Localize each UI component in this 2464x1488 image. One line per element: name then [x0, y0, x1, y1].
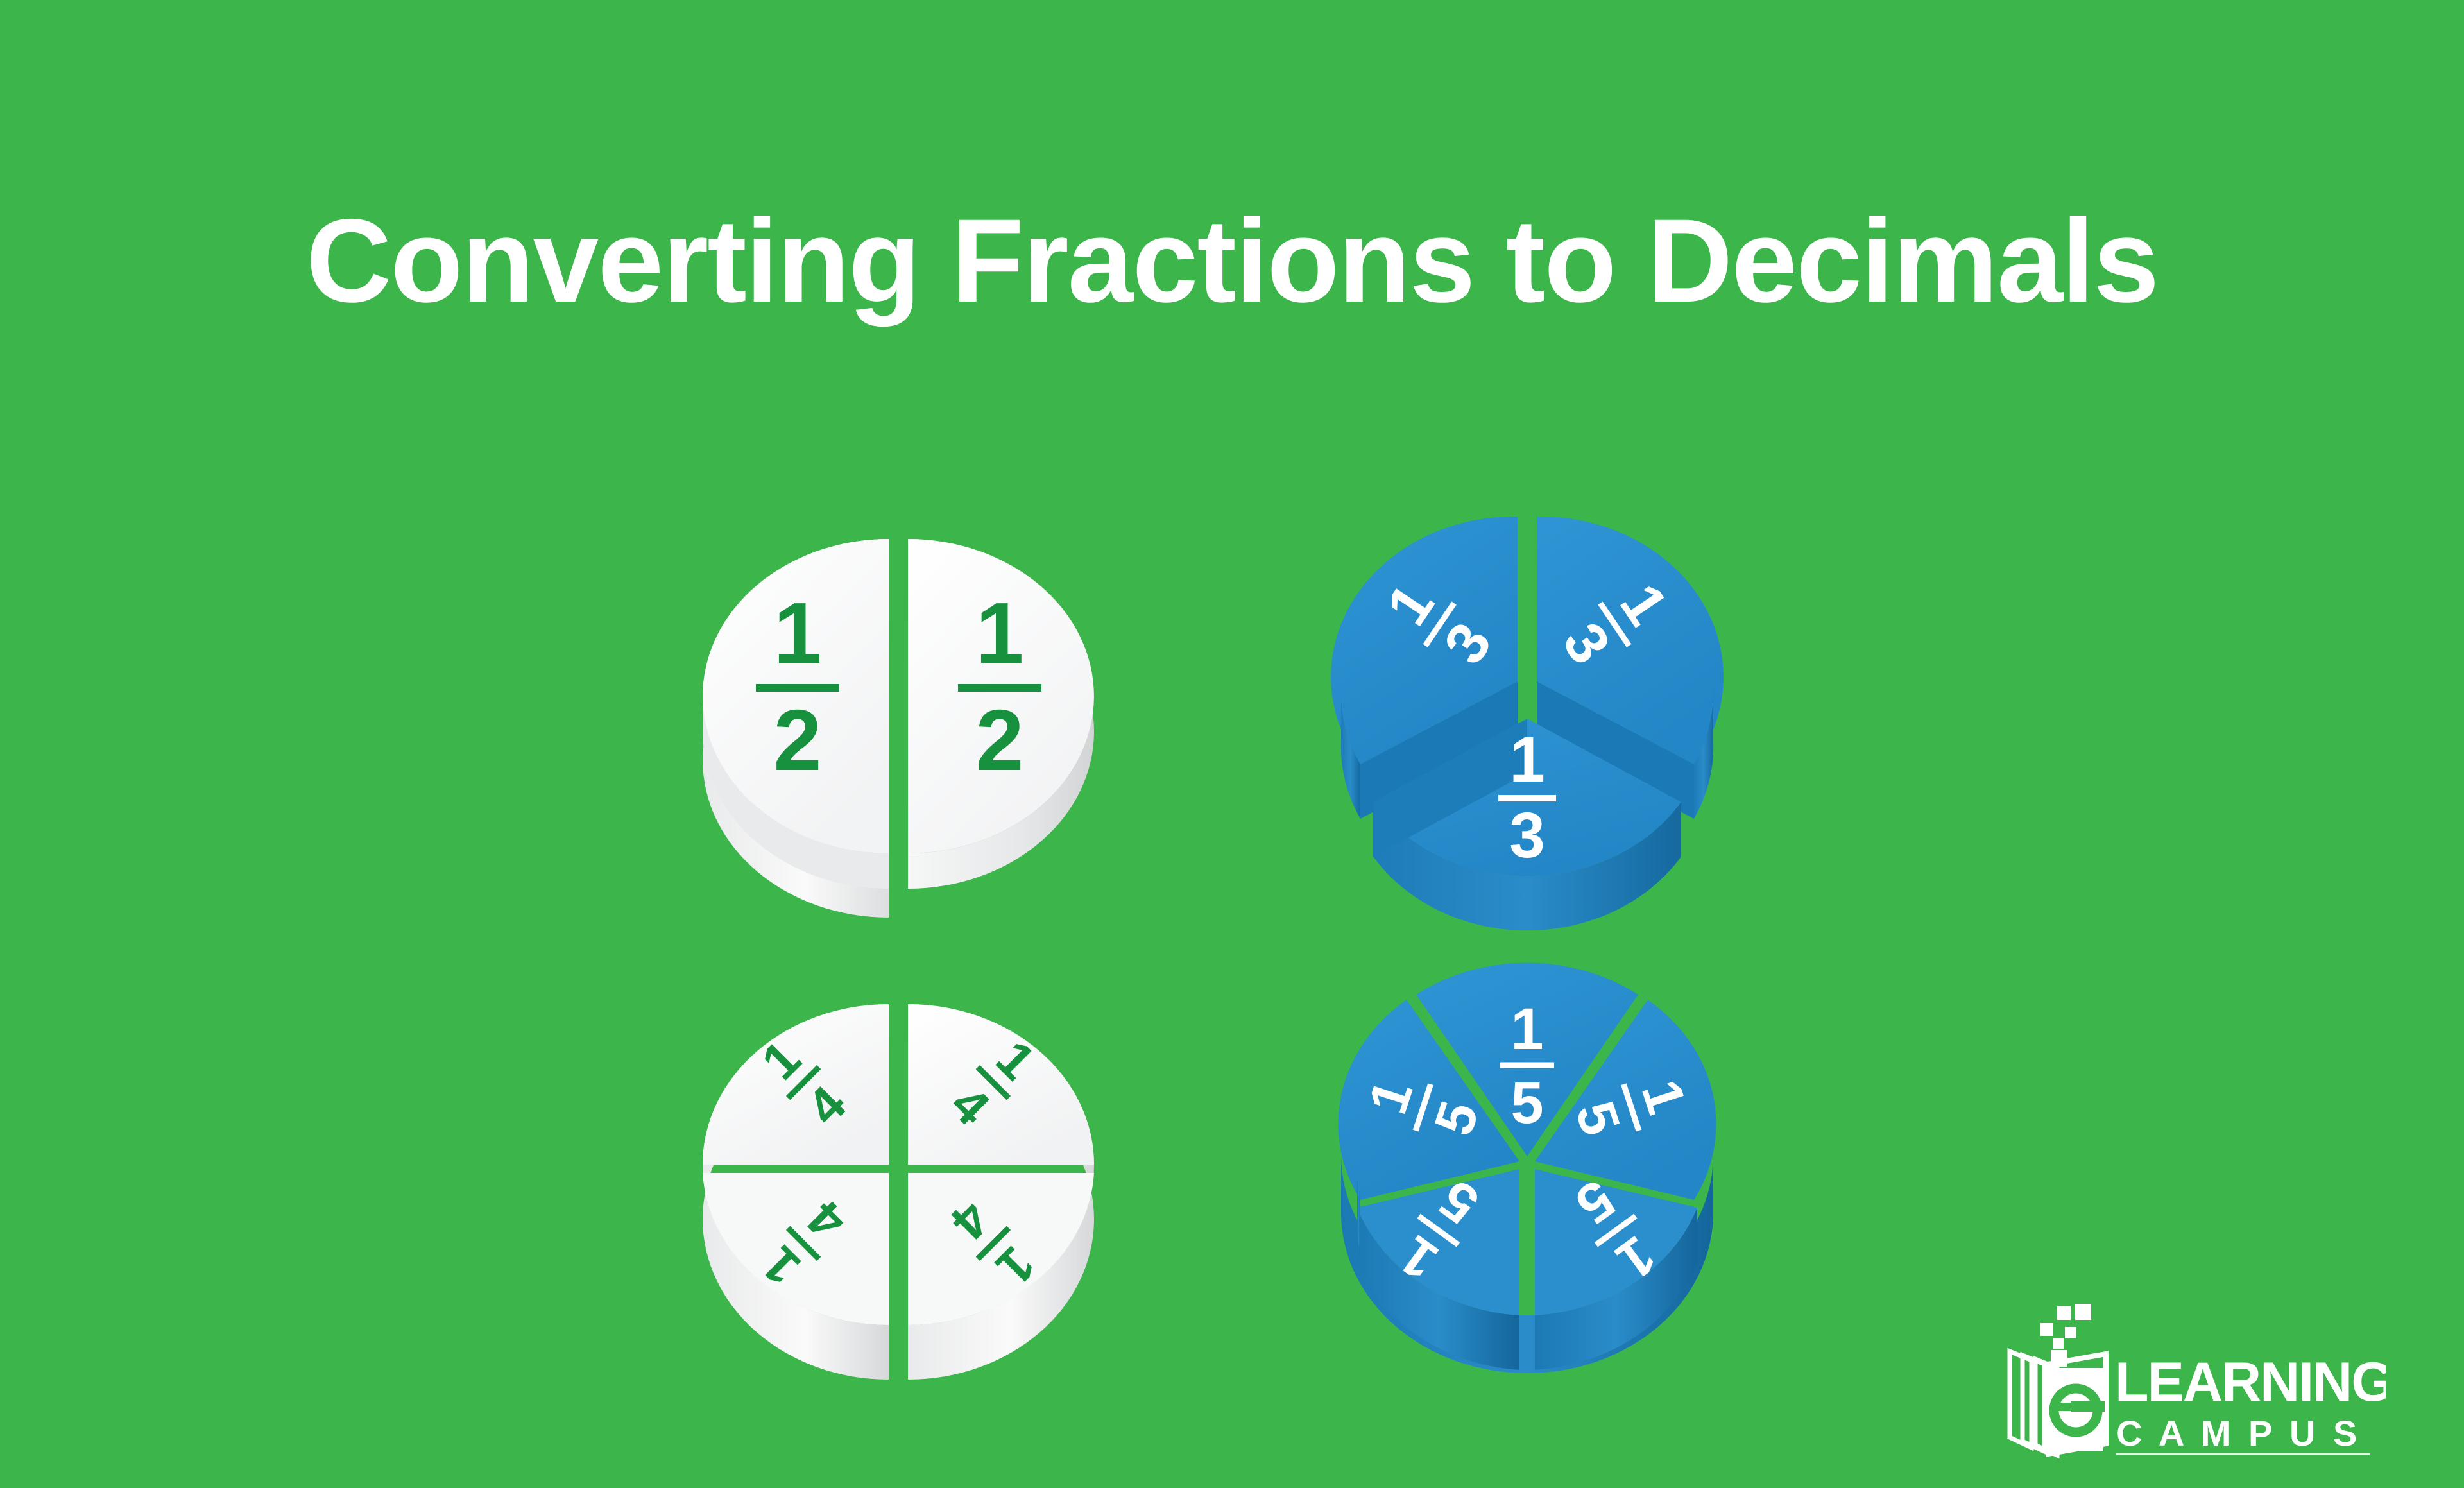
quarters-pie-svg: 1 4 1 4	[642, 943, 1155, 1392]
halves-pie: 1 2 1 2	[642, 468, 1155, 918]
quarters-slice-1: 1 4	[703, 1004, 889, 1165]
poster-canvas: Converting Fractions to Decimals	[0, 0, 2464, 1488]
halves-slice-left-denominator: 2	[773, 692, 821, 789]
logo-svg: LEARNING C A M P U S	[2001, 1301, 2386, 1465]
fraction-pie-grid: 1 2 1 2	[629, 468, 1861, 1399]
elearning-campus-logo[interactable]: LEARNING C A M P U S	[2001, 1301, 2386, 1465]
page-title: Converting Fractions to Decimals	[0, 199, 2464, 323]
logo-secondary-text: C A M P U S	[2116, 1413, 2361, 1453]
fifths-pie: 1 5 1 5	[1270, 930, 1784, 1380]
fifths-pie-svg: 1 5 1 5	[1270, 930, 1784, 1380]
thirds-slice-3-numerator: 1	[1509, 724, 1545, 796]
fifths-slice-1-numerator: 1	[1510, 996, 1543, 1062]
quarters-pie: 1 4 1 4	[642, 943, 1155, 1392]
thirds-pie: 1 3 1 3	[1270, 456, 1784, 905]
halves-slice-left-numerator: 1	[773, 585, 821, 681]
halves-pie-svg: 1 2 1 2	[642, 468, 1155, 918]
halves-slice-right-numerator: 1	[975, 585, 1023, 681]
halves-slice-right-denominator: 2	[975, 692, 1023, 789]
thirds-slice-3-denominator: 3	[1509, 800, 1545, 871]
halves-slice-left: 1 2	[703, 539, 889, 918]
quarters-slice-2: 1 4	[908, 1004, 1094, 1165]
halves-slice-right: 1 2	[908, 539, 1094, 889]
thirds-pie-svg: 1 3 1 3	[1270, 456, 1784, 905]
fifths-slice-1-denominator: 5	[1510, 1070, 1543, 1136]
logo-primary-text: LEARNING	[2115, 1351, 2386, 1413]
